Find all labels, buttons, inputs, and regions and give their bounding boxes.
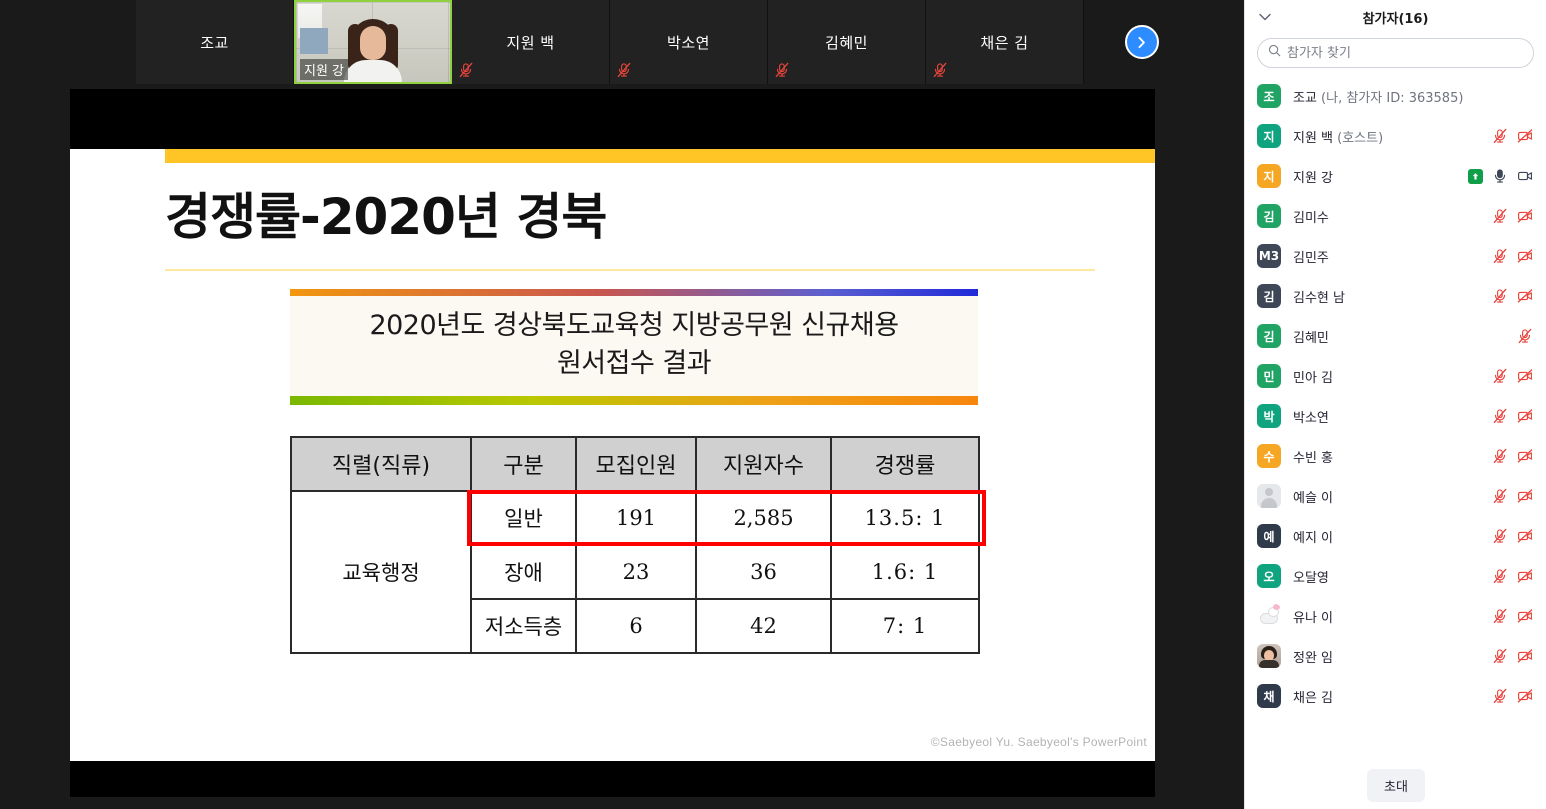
participant-tile-박소연[interactable]: 박소연 xyxy=(610,0,768,84)
search-box[interactable] xyxy=(1257,38,1534,68)
mic-muted-icon xyxy=(616,62,632,80)
mic-muted-icon[interactable] xyxy=(1492,408,1508,424)
camera-off-icon xyxy=(1517,288,1533,304)
participant-row[interactable]: 유나 이 xyxy=(1245,596,1546,636)
participant-name: 박소연 xyxy=(1293,407,1492,426)
camera-off-icon[interactable] xyxy=(1517,648,1533,664)
avatar: 예 xyxy=(1257,524,1281,548)
camera-off-icon[interactable] xyxy=(1517,448,1533,464)
mic-muted-icon xyxy=(616,62,632,78)
mic-muted-icon[interactable] xyxy=(1492,128,1508,144)
camera-off-icon xyxy=(1517,448,1533,464)
mic-muted-icon xyxy=(458,62,474,80)
camera-off-icon xyxy=(1517,128,1533,144)
video-tile-지원 강[interactable]: 지원 강 xyxy=(294,0,452,84)
participant-name: 정완 임 xyxy=(1293,647,1492,666)
participant-name: 유나 이 xyxy=(1293,607,1492,626)
camera-off-icon[interactable] xyxy=(1517,128,1533,144)
col-header-gubun: 구분 xyxy=(471,437,576,491)
tile-display-name: 박소연 xyxy=(667,32,710,53)
mic-muted-icon xyxy=(1492,248,1508,264)
search-input[interactable] xyxy=(1287,46,1523,61)
cell-ratio: 13.5: 1 xyxy=(831,491,979,545)
participant-list[interactable]: 조 조교 (나, 참가자 ID: 363585) 지 지원 백 (호스트) 지 … xyxy=(1245,76,1546,716)
avatar: 오 xyxy=(1257,564,1281,588)
participant-name: 민아 김 xyxy=(1293,367,1492,386)
banner-top-gradient xyxy=(290,289,978,296)
participant-status-icons xyxy=(1492,248,1533,264)
camera-off-icon xyxy=(1517,568,1533,584)
participant-row[interactable]: 지 지원 백 (호스트) xyxy=(1245,116,1546,156)
table-header-row: 직렬(직류) 구분 모집인원 지원자수 경쟁률 xyxy=(291,437,979,491)
mic-muted-icon[interactable] xyxy=(1492,288,1508,304)
col-header-quota: 모집인원 xyxy=(576,437,696,491)
avatar: 지 xyxy=(1257,164,1281,188)
mic-muted-icon xyxy=(1492,688,1508,704)
participant-row[interactable]: 조 조교 (나, 참가자 ID: 363585) xyxy=(1245,76,1546,116)
tile-display-name: 조교 xyxy=(200,32,229,53)
mic-muted-icon[interactable] xyxy=(1492,688,1508,704)
participant-status-icons xyxy=(1492,368,1533,384)
participant-row[interactable]: 지 지원 강 xyxy=(1245,156,1546,196)
participant-status-icons xyxy=(1492,488,1533,504)
participant-name: 김혜민 xyxy=(1293,327,1517,346)
mic-muted-icon xyxy=(1492,528,1508,544)
participant-status-icons xyxy=(1492,568,1533,584)
slide-banner: 2020년도 경상북도교육청 지방공무원 신규채용 원서접수 결과 xyxy=(290,289,978,405)
video-tile-name: 지원 강 xyxy=(300,59,348,80)
slide-title-divider xyxy=(165,269,1095,271)
participant-name: 예지 이 xyxy=(1293,527,1492,546)
mic-muted-icon xyxy=(458,62,474,78)
camera-off-icon xyxy=(1517,688,1533,704)
camera-off-icon[interactable] xyxy=(1517,208,1533,224)
filmstrip-next-cell xyxy=(1084,0,1199,84)
participant-tile-조교[interactable]: 조교 xyxy=(136,0,294,84)
participant-status-icons xyxy=(1492,128,1533,144)
chevron-down-icon[interactable] xyxy=(1257,9,1273,25)
mic-muted-icon xyxy=(1492,128,1508,144)
participant-status-icons xyxy=(1517,328,1533,344)
participant-name: 김미수 xyxy=(1293,207,1492,226)
mic-muted-icon[interactable] xyxy=(1492,248,1508,264)
camera-off-icon xyxy=(1517,528,1533,544)
meeting-stage: 조교 지원 강 지원 백 박소연 김혜민 채은 김 xyxy=(0,0,1244,809)
tile-display-name: 지원 백 xyxy=(506,32,554,53)
participant-name: 예슬 이 xyxy=(1293,487,1492,506)
cell-quota: 191 xyxy=(576,491,696,545)
participant-name: 지원 백 (호스트) xyxy=(1293,127,1492,146)
mic-muted-icon[interactable] xyxy=(1492,368,1508,384)
camera-off-icon[interactable] xyxy=(1517,248,1533,264)
participant-name: 오달영 xyxy=(1293,567,1492,586)
camera-off-icon xyxy=(1517,208,1533,224)
participant-filmstrip[interactable]: 조교 지원 강 지원 백 박소연 김혜민 채은 김 xyxy=(0,0,1244,84)
avatar: 김 xyxy=(1257,284,1281,308)
participant-row[interactable]: 민 민아 김 xyxy=(1245,356,1546,396)
participant-row[interactable]: 수 수빈 홍 xyxy=(1245,436,1546,476)
avatar xyxy=(1257,644,1281,668)
mic-muted-icon xyxy=(1492,488,1508,504)
zoom-meeting-window: 조교 지원 강 지원 백 박소연 김혜민 채은 김 xyxy=(0,0,1546,809)
slide-watermark: ©Saebyeol Yu. Saebyeol's PowerPoint xyxy=(931,735,1147,749)
avatar: 조 xyxy=(1257,84,1281,108)
avatar xyxy=(1257,604,1281,628)
mic-muted-icon[interactable] xyxy=(1492,448,1508,464)
col-header-applicants: 지원자수 xyxy=(696,437,831,491)
mic-on-icon xyxy=(1492,168,1508,184)
camera-off-icon xyxy=(1517,648,1533,664)
participant-status-icons xyxy=(1492,648,1533,664)
participant-tile-김혜민[interactable]: 김혜민 xyxy=(768,0,926,84)
camera-off-icon xyxy=(1517,408,1533,424)
cell-gubun: 장애 xyxy=(471,545,576,599)
camera-off-icon[interactable] xyxy=(1517,408,1533,424)
search-icon xyxy=(1268,44,1281,62)
mic-muted-icon xyxy=(1517,328,1533,344)
results-table-wrapper: 직렬(직류) 구분 모집인원 지원자수 경쟁률 교육행정 일반 191 xyxy=(290,436,978,654)
filmstrip-spacer xyxy=(0,0,136,84)
cell-gubun: 일반 xyxy=(471,491,576,545)
cell-applicants: 36 xyxy=(696,545,831,599)
camera-off-icon[interactable] xyxy=(1517,528,1533,544)
cell-quota: 6 xyxy=(576,599,696,653)
participant-row[interactable]: 김 김혜민 xyxy=(1245,316,1546,356)
cell-ratio: 1.6: 1 xyxy=(831,545,979,599)
camera-off-icon[interactable] xyxy=(1517,288,1533,304)
participant-name: 조교 (나, 참가자 ID: 363585) xyxy=(1293,87,1533,106)
camera-off-icon xyxy=(1517,368,1533,384)
mic-muted-icon xyxy=(1492,288,1508,304)
mic-muted-icon xyxy=(932,62,948,78)
mic-muted-icon[interactable] xyxy=(1492,208,1508,224)
camera-on-icon[interactable] xyxy=(1517,168,1533,184)
participant-status-icons xyxy=(1492,208,1533,224)
participant-row[interactable]: 예 예지 이 xyxy=(1245,516,1546,556)
banner-line-1: 2020년도 경상북도교육청 지방공무원 신규채용 xyxy=(290,307,978,345)
participants-panel-footer: 초대 xyxy=(1245,761,1546,809)
cell-applicants: 2,585 xyxy=(696,491,831,545)
participants-panel-header: 참가자(16) xyxy=(1245,0,1546,34)
participant-row[interactable]: 예슬 이 xyxy=(1245,476,1546,516)
avatar: 지 xyxy=(1257,124,1281,148)
screen-share-icon xyxy=(1468,169,1483,184)
mic-muted-icon[interactable] xyxy=(1492,528,1508,544)
participant-tile-채은 김[interactable]: 채은 김 xyxy=(926,0,1084,84)
camera-off-icon xyxy=(1517,608,1533,624)
avatar: 김 xyxy=(1257,204,1281,228)
mic-muted-icon xyxy=(1492,368,1508,384)
avatar: M3 xyxy=(1257,244,1281,268)
avatar: 김 xyxy=(1257,324,1281,348)
participant-name: 채은 김 xyxy=(1293,687,1492,706)
results-table: 직렬(직류) 구분 모집인원 지원자수 경쟁률 교육행정 일반 191 xyxy=(290,436,980,654)
table-row: 교육행정 일반 191 2,585 13.5: 1 xyxy=(291,491,979,545)
mic-muted-icon xyxy=(1492,208,1508,224)
camera-off-icon[interactable] xyxy=(1517,368,1533,384)
mic-muted-icon[interactable] xyxy=(1492,608,1508,624)
avatar: 수 xyxy=(1257,444,1281,468)
participant-name: 수빈 홍 xyxy=(1293,447,1492,466)
camera-off-icon xyxy=(1517,488,1533,504)
participant-row[interactable]: 김 김미수 xyxy=(1245,196,1546,236)
participant-row[interactable]: 박 박소연 xyxy=(1245,396,1546,436)
cell-quota: 23 xyxy=(576,545,696,599)
participant-status-icons xyxy=(1468,168,1533,184)
cell-applicants: 42 xyxy=(696,599,831,653)
mic-on-icon[interactable] xyxy=(1492,168,1508,184)
mic-muted-icon xyxy=(932,62,948,80)
mic-muted-icon[interactable] xyxy=(1492,568,1508,584)
participant-tile-지원 백[interactable]: 지원 백 xyxy=(452,0,610,84)
camera-on-icon xyxy=(1517,168,1533,184)
participant-row[interactable]: M3 김민주 xyxy=(1245,236,1546,276)
slide-canvas: 경쟁률-2020년 경북 2020년도 경상북도교육청 지방공무원 신규채용 원… xyxy=(70,149,1155,761)
mic-muted-icon xyxy=(774,62,790,80)
camera-off-icon[interactable] xyxy=(1517,488,1533,504)
mic-muted-icon xyxy=(1492,568,1508,584)
tile-display-name: 김혜민 xyxy=(825,32,868,53)
avatar: 민 xyxy=(1257,364,1281,388)
mic-muted-icon xyxy=(1492,608,1508,624)
banner-bottom-gradient xyxy=(290,396,978,405)
banner-text: 2020년도 경상북도교육청 지방공무원 신규채용 원서접수 결과 xyxy=(290,296,978,396)
mic-muted-icon xyxy=(774,62,790,78)
banner-line-2: 원서접수 결과 xyxy=(290,345,978,383)
participant-status-icons xyxy=(1492,288,1533,304)
tile-display-name: 채은 김 xyxy=(980,32,1028,53)
participant-row[interactable]: 김 김수현 남 xyxy=(1245,276,1546,316)
mic-muted-icon xyxy=(1492,408,1508,424)
mic-muted-icon[interactable] xyxy=(1492,488,1508,504)
shared-slide: 경쟁률-2020년 경북 2020년도 경상북도교육청 지방공무원 신규채용 원… xyxy=(70,89,1155,797)
avatar: 박 xyxy=(1257,404,1281,428)
participant-row[interactable]: 오 오달영 xyxy=(1245,556,1546,596)
chevron-right-icon xyxy=(1135,36,1148,49)
participant-status-icons xyxy=(1492,408,1533,424)
cell-ratio: 7: 1 xyxy=(831,599,979,653)
cell-category: 교육행정 xyxy=(291,491,471,653)
mic-muted-icon[interactable] xyxy=(1492,648,1508,664)
col-header-jikryeol: 직렬(직류) xyxy=(291,437,471,491)
mic-muted-icon xyxy=(1492,648,1508,664)
slide-title: 경쟁률-2020년 경북 xyxy=(165,177,606,249)
camera-off-icon[interactable] xyxy=(1517,568,1533,584)
camera-off-icon[interactable] xyxy=(1517,688,1533,704)
slide-accent-bar xyxy=(165,149,1155,163)
participant-status-icons xyxy=(1492,608,1533,624)
participant-status-icons xyxy=(1492,688,1533,704)
mic-muted-icon[interactable] xyxy=(1517,328,1533,344)
participants-count-title: 참가자(16) xyxy=(1363,8,1429,27)
participant-row[interactable]: 채 채은 김 xyxy=(1245,676,1546,716)
participant-search-wrapper xyxy=(1245,34,1546,76)
participant-name: 김수현 남 xyxy=(1293,287,1492,306)
col-header-ratio: 경쟁률 xyxy=(831,437,979,491)
camera-off-icon xyxy=(1517,248,1533,264)
avatar: 채 xyxy=(1257,684,1281,708)
participant-status-icons xyxy=(1492,528,1533,544)
avatar xyxy=(1257,484,1281,508)
mic-muted-icon xyxy=(1492,448,1508,464)
participants-panel: 참가자(16) 조 조교 (나, 참가자 ID: 363585) 지 지원 백 … xyxy=(1244,0,1546,809)
participant-name: 김민주 xyxy=(1293,247,1492,266)
screen-share-area: 경쟁률-2020년 경북 2020년도 경상북도교육청 지방공무원 신규채용 원… xyxy=(0,84,1244,809)
participant-status-icons xyxy=(1492,448,1533,464)
participant-row[interactable]: 정완 임 xyxy=(1245,636,1546,676)
participant-name: 지원 강 xyxy=(1293,167,1468,186)
next-page-button[interactable] xyxy=(1125,25,1159,59)
camera-off-icon[interactable] xyxy=(1517,608,1533,624)
cell-gubun: 저소득층 xyxy=(471,599,576,653)
invite-button[interactable]: 초대 xyxy=(1367,769,1425,802)
